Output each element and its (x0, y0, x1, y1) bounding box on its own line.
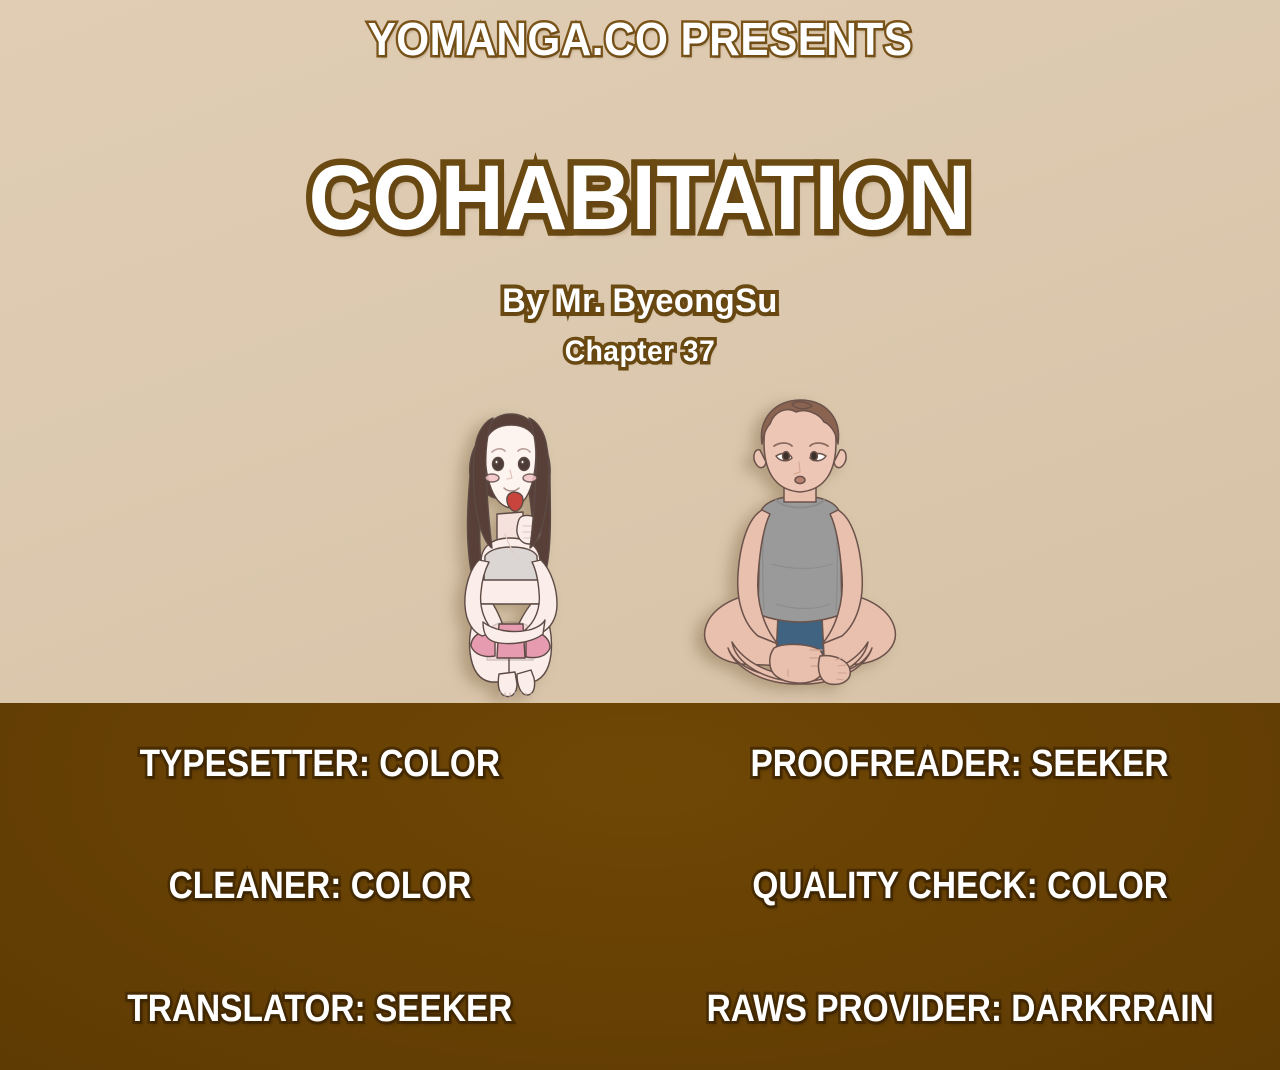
credit-cleaner-label: CLEANER: COLOR (169, 867, 472, 905)
credits-panel: TYPESETTER: COLOR PROOFREADER: SEEKER CL… (0, 703, 1280, 1070)
author-credit: By Mr. ByeongSu (26, 284, 1255, 318)
cover-artwork-area: YOMANGA.CO PRESENTS COHABITATION By Mr. … (0, 0, 1280, 703)
credit-translator-label: TRANSLATOR: SEEKER (127, 990, 512, 1028)
credits-grid: TYPESETTER: COLOR PROOFREADER: SEEKER CL… (0, 703, 1280, 1070)
girl-svg (437, 408, 583, 700)
credit-proofreader-label: PROOFREADER: SEEKER (751, 745, 1169, 783)
credit-proofreader: PROOFREADER: SEEKER (640, 745, 1280, 783)
credit-raws-provider-label: RAWS PROVIDER: DARKRRAIN (706, 990, 1213, 1028)
cover-page: YOMANGA.CO PRESENTS COHABITATION By Mr. … (0, 0, 1280, 1070)
credit-cleaner: CLEANER: COLOR (0, 867, 640, 905)
chapter-label: Chapter 37 (38, 337, 1241, 367)
credit-raws-provider: RAWS PROVIDER: DARKRRAIN (640, 990, 1280, 1028)
boy-svg (692, 398, 908, 700)
character-boy-illustration (692, 398, 908, 705)
page-title: COHABITATION (32, 152, 1248, 244)
credit-typesetter: TYPESETTER: COLOR (0, 745, 640, 783)
credit-quality-check: QUALITY CHECK: COLOR (640, 867, 1280, 905)
character-girl-illustration (437, 408, 583, 705)
credit-quality-check-label: QUALITY CHECK: COLOR (752, 867, 1168, 905)
publisher-presents-text: YOMANGA.CO PRESENTS (51, 16, 1229, 62)
credit-typesetter-label: TYPESETTER: COLOR (140, 745, 500, 783)
credit-translator: TRANSLATOR: SEEKER (0, 990, 640, 1028)
